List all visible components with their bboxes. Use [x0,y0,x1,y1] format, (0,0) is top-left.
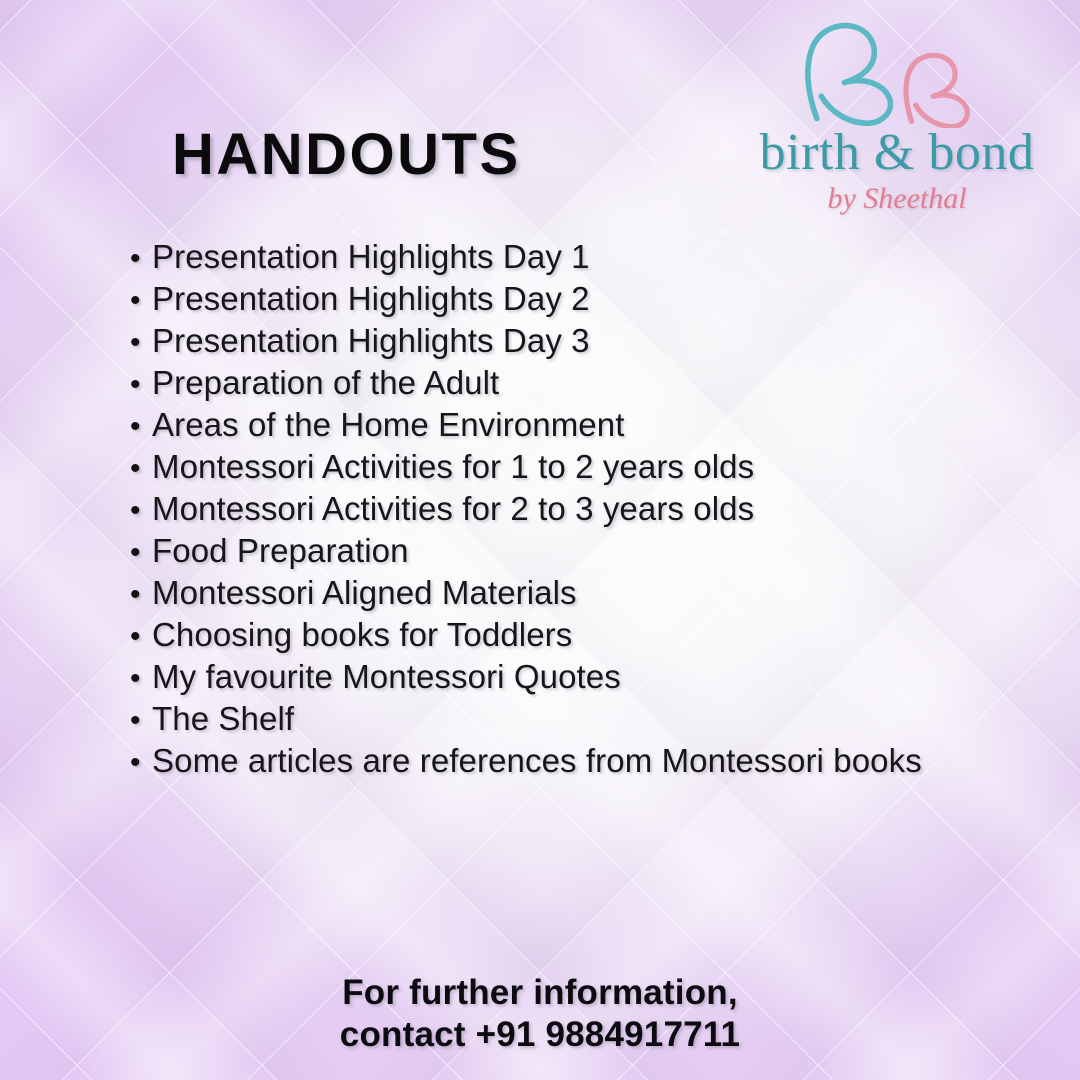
list-item-label: Presentation Highlights Day 2 [152,280,590,318]
page-title: HANDOUTS [172,126,521,184]
list-item-label: Presentation Highlights Day 3 [152,322,590,360]
bullet-icon: • [130,370,152,400]
bullet-icon: • [130,328,152,358]
list-item-label: Montessori Aligned Materials [152,574,577,612]
bullet-icon: • [130,286,152,316]
bullet-icon: • [130,664,152,694]
bullet-icon: • [130,244,152,274]
handouts-poster: birth & bond by Sheethal HANDOUTS • Pres… [0,0,1080,1080]
list-item: • Food Preparation [130,532,922,574]
list-item-label: Food Preparation [152,532,409,570]
bullet-icon: • [130,580,152,610]
list-item: • Preparation of the Adult [130,364,922,406]
list-item-label: Choosing books for Toddlers [152,616,572,654]
list-item: • Presentation Highlights Day 3 [130,322,922,364]
list-item: • Some articles are references from Mont… [130,742,922,784]
list-item-label: Some articles are references from Montes… [152,742,922,780]
list-item: • Presentation Highlights Day 2 [130,280,922,322]
bullet-icon: • [130,706,152,736]
bullet-icon: • [130,538,152,568]
list-item-label: My favourite Montessori Quotes [152,658,621,696]
list-item-label: The Shelf [152,700,294,738]
contact-footer: For further information, contact +91 988… [0,972,1080,1056]
list-item: • My favourite Montessori Quotes [130,658,922,700]
bullet-icon: • [130,748,152,778]
handouts-list: • Presentation Highlights Day 1 • Presen… [130,238,922,784]
footer-line-2: contact +91 9884917711 [0,1014,1080,1056]
bullet-icon: • [130,454,152,484]
list-item: • Montessori Activities for 1 to 2 years… [130,448,922,490]
list-item: • Areas of the Home Environment [130,406,922,448]
list-item: • Montessori Activities for 2 to 3 years… [130,490,922,532]
list-item-label: Preparation of the Adult [152,364,499,402]
list-item: • The Shelf [130,700,922,742]
footer-line-1: For further information, [0,972,1080,1014]
brand-logo-block: birth & bond by Sheethal [732,16,1062,216]
list-item-label: Montessori Activities for 2 to 3 years o… [152,490,754,528]
poster-content: birth & bond by Sheethal HANDOUTS • Pres… [0,0,1080,1080]
list-item-label: Presentation Highlights Day 1 [152,238,590,276]
list-item-label: Areas of the Home Environment [152,406,624,444]
bullet-icon: • [130,412,152,442]
list-item: • Presentation Highlights Day 1 [130,238,922,280]
brand-byline: by Sheethal [732,182,1062,216]
bullet-icon: • [130,496,152,526]
list-item: • Choosing books for Toddlers [130,616,922,658]
list-item: • Montessori Aligned Materials [130,574,922,616]
two-hearts-logo-icon [792,16,1002,128]
bullet-icon: • [130,622,152,652]
list-item-label: Montessori Activities for 1 to 2 years o… [152,448,754,486]
brand-wordmark: birth & bond [732,126,1062,180]
